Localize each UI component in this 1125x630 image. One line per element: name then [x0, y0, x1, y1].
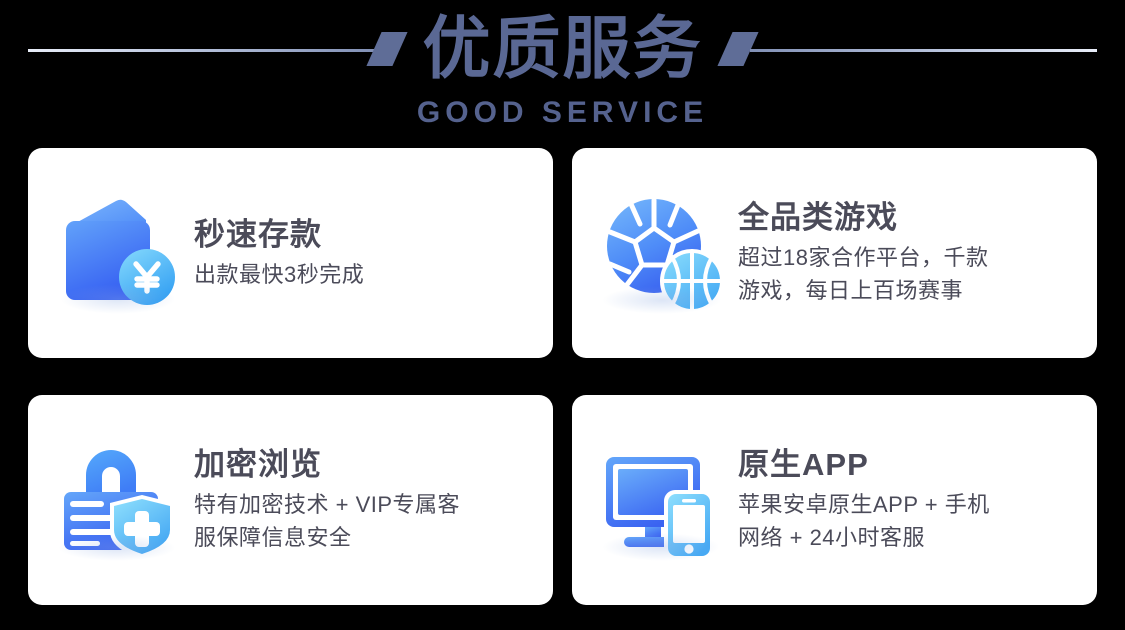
lock-shield-icon	[54, 435, 184, 565]
card-description-line: 游戏，每日上百场赛事	[738, 274, 1079, 307]
monitor-phone-svg	[598, 435, 728, 565]
decorative-rule-left	[28, 21, 400, 77]
card-description-line: 超过18家合作平台，千款	[738, 241, 1079, 274]
banner-header: 优质服务 GOOD SERVICE	[0, 0, 1125, 145]
decorative-rule-right	[725, 21, 1097, 77]
card-description-line: 特有加密技术 + VIP专属客	[194, 488, 535, 521]
card-text: 加密浏览 特有加密技术 + VIP专属客 服保障信息安全	[194, 446, 535, 554]
card-description: 特有加密技术 + VIP专属客 服保障信息安全	[194, 488, 535, 554]
rule-line-left	[28, 49, 375, 52]
page-subtitle: GOOD SERVICE	[0, 96, 1125, 130]
feature-card-encryption[interactable]: 加密浏览 特有加密技术 + VIP专属客 服保障信息安全	[28, 395, 553, 605]
feature-card-games[interactable]: 全品类游戏 超过18家合作平台，千款 游戏，每日上百场赛事	[572, 148, 1097, 358]
promo-banner: 优质服务 GOOD SERVICE	[0, 0, 1125, 630]
feature-card-native-app[interactable]: 原生APP 苹果安卓原生APP + 手机 网络 + 24小时客服	[572, 395, 1097, 605]
wallet-yen-icon	[54, 188, 184, 318]
feature-card-grid: 秒速存款 出款最快3秒完成	[28, 148, 1097, 605]
card-title: 秒速存款	[194, 216, 535, 254]
soccer-basketball-icon	[598, 188, 728, 318]
card-title: 全品类游戏	[738, 199, 1079, 237]
card-description-line: 出款最快3秒完成	[194, 258, 535, 291]
feature-card-deposit[interactable]: 秒速存款 出款最快3秒完成	[28, 148, 553, 358]
title-row: 优质服务	[0, 8, 1125, 90]
card-description-line: 网络 + 24小时客服	[738, 521, 1079, 554]
rule-line-right	[750, 49, 1097, 52]
card-title: 原生APP	[738, 446, 1079, 484]
card-description-line: 苹果安卓原生APP + 手机	[738, 488, 1079, 521]
card-description: 苹果安卓原生APP + 手机 网络 + 24小时客服	[738, 488, 1079, 554]
card-text: 全品类游戏 超过18家合作平台，千款 游戏，每日上百场赛事	[738, 199, 1079, 307]
card-text: 原生APP 苹果安卓原生APP + 手机 网络 + 24小时客服	[738, 446, 1079, 554]
lock-shield-svg	[54, 435, 184, 565]
card-description: 超过18家合作平台，千款 游戏，每日上百场赛事	[738, 241, 1079, 307]
card-text: 秒速存款 出款最快3秒完成	[194, 216, 535, 291]
card-description: 出款最快3秒完成	[194, 258, 535, 291]
soccer-basketball-svg	[598, 188, 728, 318]
page-title: 优质服务	[400, 11, 724, 87]
wallet-yen-svg	[54, 188, 184, 318]
card-description-line: 服保障信息安全	[194, 521, 535, 554]
monitor-phone-icon	[598, 435, 728, 565]
card-title: 加密浏览	[194, 446, 535, 484]
